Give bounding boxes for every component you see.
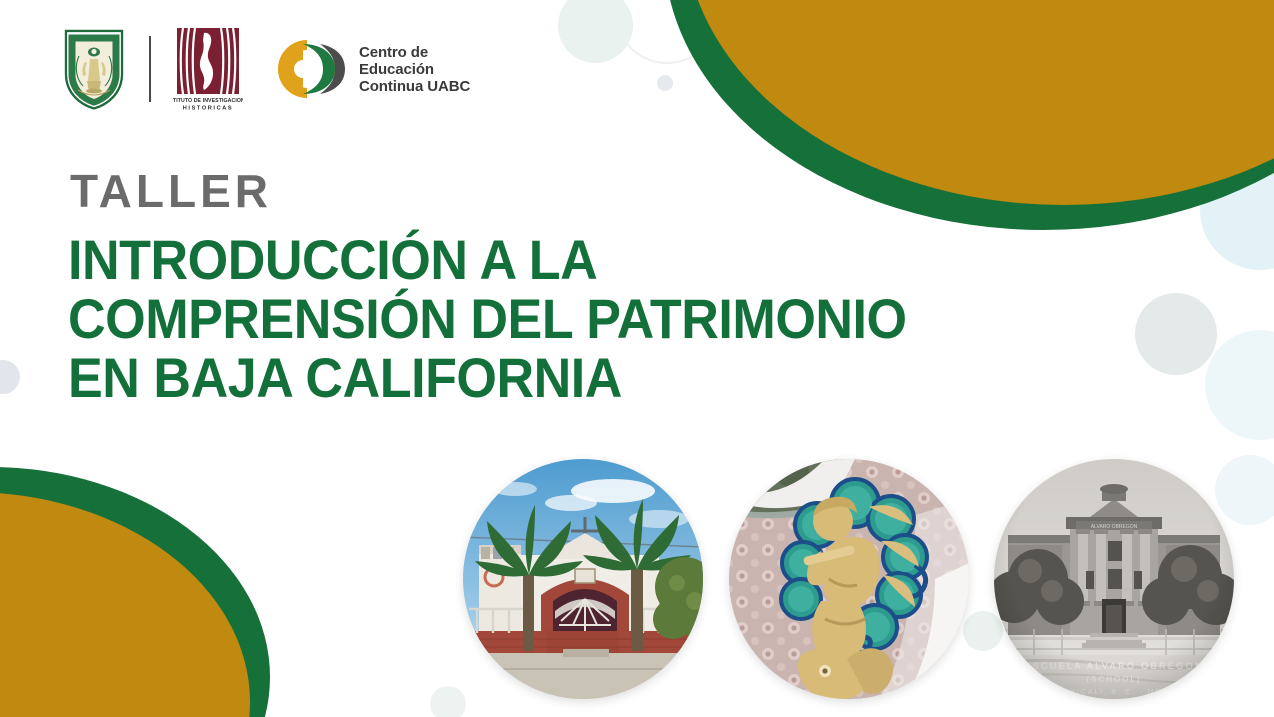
decor-bubble-cyan-1 [1200, 150, 1274, 270]
uabc-shield-icon [63, 28, 125, 110]
iih-logo-text-line1: INSTITUTO DE INVESTIGACIONES [173, 98, 243, 104]
iih-logo-icon: INSTITUTO DE INVESTIGACIONES HISTORICAS [173, 26, 243, 112]
slide-title: INTRODUCCIÓN A LA COMPRENSIÓN DEL PATRIM… [68, 230, 907, 407]
decor-bubble-lavender-1 [688, 0, 760, 44]
decor-bubble-gray-1 [1135, 293, 1217, 375]
photo-faun-artwork [729, 459, 969, 699]
decor-bubble-lavender-2 [0, 360, 20, 394]
corner-swoosh-bottom-left-gold [0, 492, 250, 717]
slide-eyebrow: TALLER [70, 165, 272, 217]
corner-swoosh-top-right-green [664, 0, 1274, 230]
cec-mark-icon [273, 38, 347, 100]
photo-church-artwork [463, 459, 703, 699]
decor-bubble-mint-2 [963, 611, 1003, 651]
decor-bubble-cyan-3 [1215, 455, 1274, 525]
presentation-slide: INSTITUTO DE INVESTIGACIONES HISTORICAS … [0, 0, 1274, 717]
cec-logo: Centro de Educación Continua UABC [273, 38, 470, 100]
photo-escuela-alvaro-obregon: ALVARO OBREGON [994, 459, 1234, 699]
decor-bubble-mint-1 [558, 0, 633, 63]
photo-church-with-palm-trees [463, 459, 703, 699]
decor-bubble-mint-3 [430, 686, 466, 717]
decor-bubble-cyan-2 [1205, 330, 1274, 440]
iih-logo-text-line2: HISTORICAS [183, 106, 233, 112]
decor-ring-2 [705, 20, 783, 98]
corner-swoosh-top-right-gold [684, 0, 1274, 205]
cec-wordmark: Centro de Educación Continua UABC [359, 44, 470, 95]
logo-bar: INSTITUTO DE INVESTIGACIONES HISTORICAS … [63, 28, 470, 110]
logo-divider [149, 36, 151, 102]
corner-swoosh-bottom-left-green [0, 467, 270, 717]
decor-bubble-lavender-3 [8, 500, 60, 552]
decor-ring-1 [615, 0, 719, 64]
decor-bubble-small-1 [657, 75, 673, 91]
photo-school-artwork: ALVARO OBREGON [994, 459, 1234, 699]
photo-golden-faun-sculpture [729, 459, 969, 699]
decor-bubble-lavender-4 [14, 536, 58, 580]
